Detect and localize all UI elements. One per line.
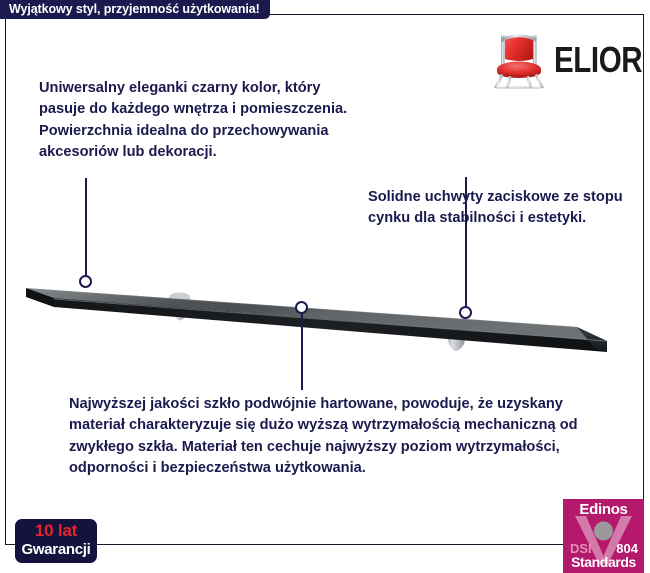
content-frame: Uniwersalny eleganki czarny kolor, który… — [5, 14, 644, 545]
red-chair-icon — [488, 31, 550, 89]
callout-text-brackets: Solidne uchwyty zaciskowe ze stopu cynku… — [368, 187, 636, 230]
leader-line-glass-quality — [301, 312, 303, 390]
leader-line-color-finish — [85, 178, 87, 282]
callout-marker-glass-quality[interactable] — [295, 301, 308, 314]
warranty-years: 10 lat — [15, 520, 97, 541]
certification-badge: Edinos DSI 804 Standards — [563, 499, 644, 573]
callout-marker-color-finish[interactable] — [79, 275, 92, 288]
header-banner: Wyjątkowy styl, przyjemność użytkowania! — [0, 0, 270, 19]
warranty-badge: 10 lat Gwarancji — [15, 519, 97, 563]
callout-text-glass-quality: Najwyższej jakości szkło podwójnie harto… — [69, 394, 594, 480]
brand-name: ELIOR — [554, 42, 642, 78]
warranty-label: Gwarancji — [15, 540, 97, 560]
brand-logo: ELIOR — [488, 31, 638, 89]
product-image-glass-shelf — [6, 251, 645, 391]
leader-line-brackets — [465, 177, 467, 313]
callout-text-color-finish: Uniwersalny eleganki czarny kolor, który… — [39, 78, 349, 164]
cert-footer: Standards — [563, 554, 644, 571]
callout-marker-brackets[interactable] — [459, 306, 472, 319]
